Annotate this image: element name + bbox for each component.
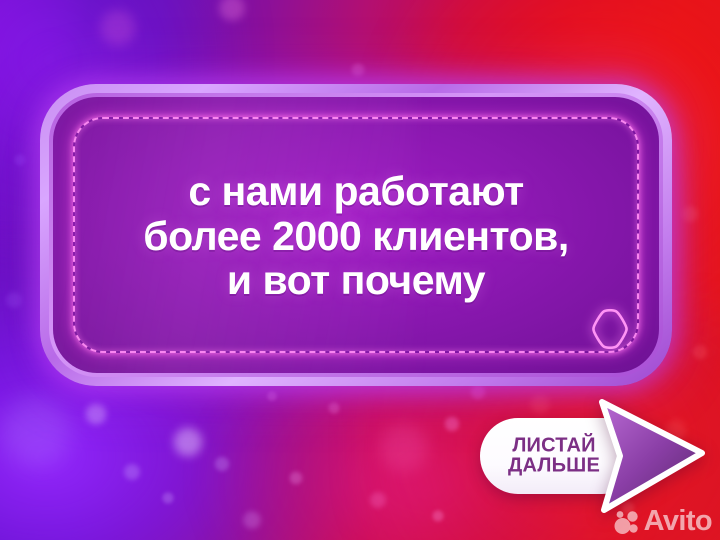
swipe-badge[interactable]: ЛИСТАЙ ДАЛЬШЕ	[480, 418, 640, 494]
promo-slide: с нами работают более 2000 клиентов, и в…	[0, 0, 720, 540]
headline-line-2: более 2000 клиентов,	[77, 214, 635, 259]
headline-line-1: с нами работают	[77, 169, 635, 214]
phone-mockup: с нами работают более 2000 клиентов, и в…	[40, 84, 672, 386]
avito-watermark: Avito	[614, 507, 712, 536]
avito-wordmark: Avito	[644, 507, 712, 536]
avito-dots-icon	[614, 509, 640, 535]
headline: с нами работают более 2000 клиентов, и в…	[53, 169, 659, 303]
headline-line-3: и вот почему	[77, 258, 635, 303]
phone-screen: с нами работают более 2000 клиентов, и в…	[53, 97, 659, 373]
play-icon[interactable]	[589, 309, 631, 349]
right-arrow-icon[interactable]	[590, 396, 710, 516]
